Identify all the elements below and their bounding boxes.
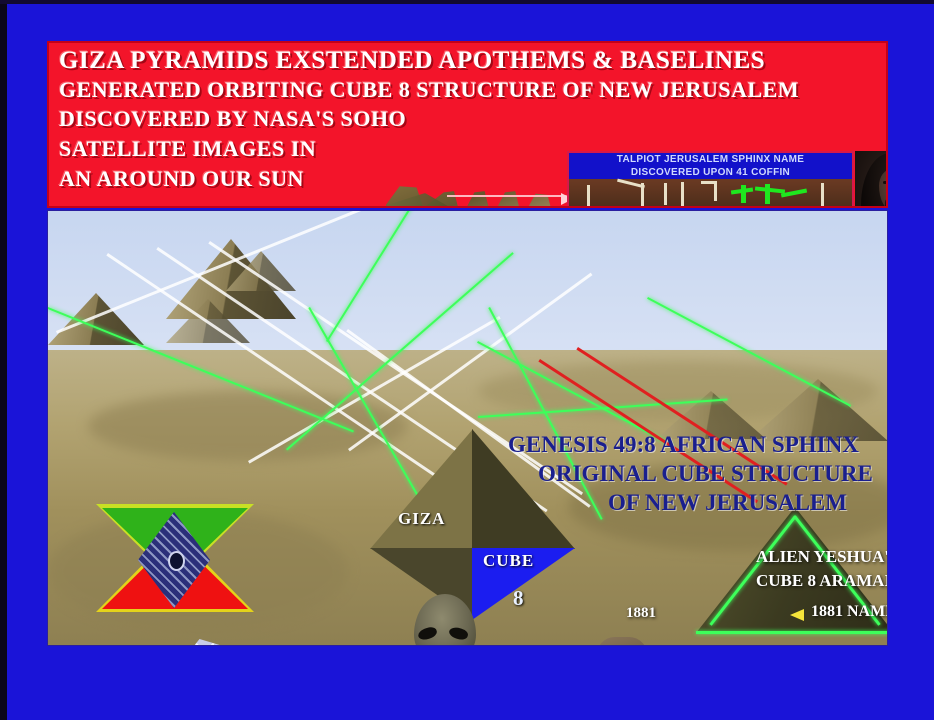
left-edge-border — [0, 0, 7, 720]
inscription-numeral-3: 3 — [697, 205, 702, 208]
orbiting-cube-8-structure: CUBE 8 — [144, 639, 329, 646]
hexagram-eye-icon — [168, 551, 185, 571]
annotation-1881-name: 1881 NAME — [811, 603, 888, 621]
annotation-alien-line-2: CUBE 8 ARAMAIC — [756, 571, 888, 591]
portrait-beard — [885, 197, 888, 208]
inscription-panel: TALPIOT JERUSALEM SPHINX NAME DISCOVERED… — [567, 151, 854, 208]
sphinx-head — [596, 637, 648, 646]
left-arrow-icon — [790, 609, 804, 621]
inscription-header-line-2: DISCOVERED UPON 41 COFFIN — [569, 166, 852, 179]
title-banner: GIZA PYRAMIDS EXSTENDED APOTHEMS & BASEL… — [47, 41, 888, 208]
label-cube-number: 8 — [513, 586, 524, 611]
banner-line-1: GIZA PYRAMIDS EXSTENDED APOTHEMS & BASEL… — [59, 46, 888, 76]
top-edge-border — [0, 0, 934, 4]
inscription-numeral-1: 1 — [755, 205, 760, 208]
banner-line-2: GENERATED ORBITING CUBE 8 STRUCTURE OF N… — [59, 76, 888, 104]
inscription-surface: 2 3 1 — [569, 179, 852, 208]
alien-head-figure — [408, 594, 482, 646]
screenshot-canvas: GIZA PYRAMIDS EXSTENDED APOTHEMS & BASEL… — [0, 0, 934, 720]
annotation-alien-line-1: ALIEN YESHUA'S — [756, 547, 888, 567]
annotation-1881: 1881 — [626, 605, 656, 622]
connector-bracket — [447, 195, 569, 208]
cube-mosaic-face — [144, 639, 329, 646]
inscription-header: TALPIOT JERUSALEM SPHINX NAME DISCOVERED… — [569, 153, 852, 179]
octahedron-face-upper-left — [370, 429, 473, 549]
headline-line-2: ORIGINAL CUBE STRUCTURE — [538, 461, 873, 487]
inscription-numeral-2: 2 — [615, 205, 620, 208]
label-cube: CUBE — [483, 551, 534, 571]
headline-line-1: GENESIS 49:8 AFRICAN SPHINX — [508, 432, 859, 458]
inscription-header-line-1: TALPIOT JERUSALEM SPHINX NAME — [569, 153, 852, 166]
hexagram-star — [96, 504, 254, 614]
headline-line-3: OF NEW JERUSALEM — [608, 490, 847, 516]
label-giza: GIZA — [398, 509, 445, 529]
banner-line-3: DISCOVERED BY NASA'S SOHO — [59, 104, 888, 134]
african-sphinx-figure — [558, 631, 688, 646]
portrait-eye-left — [883, 181, 888, 184]
avatar — [855, 151, 888, 208]
diagram-photo-area: GIZA CUBE 8 — [47, 210, 888, 646]
